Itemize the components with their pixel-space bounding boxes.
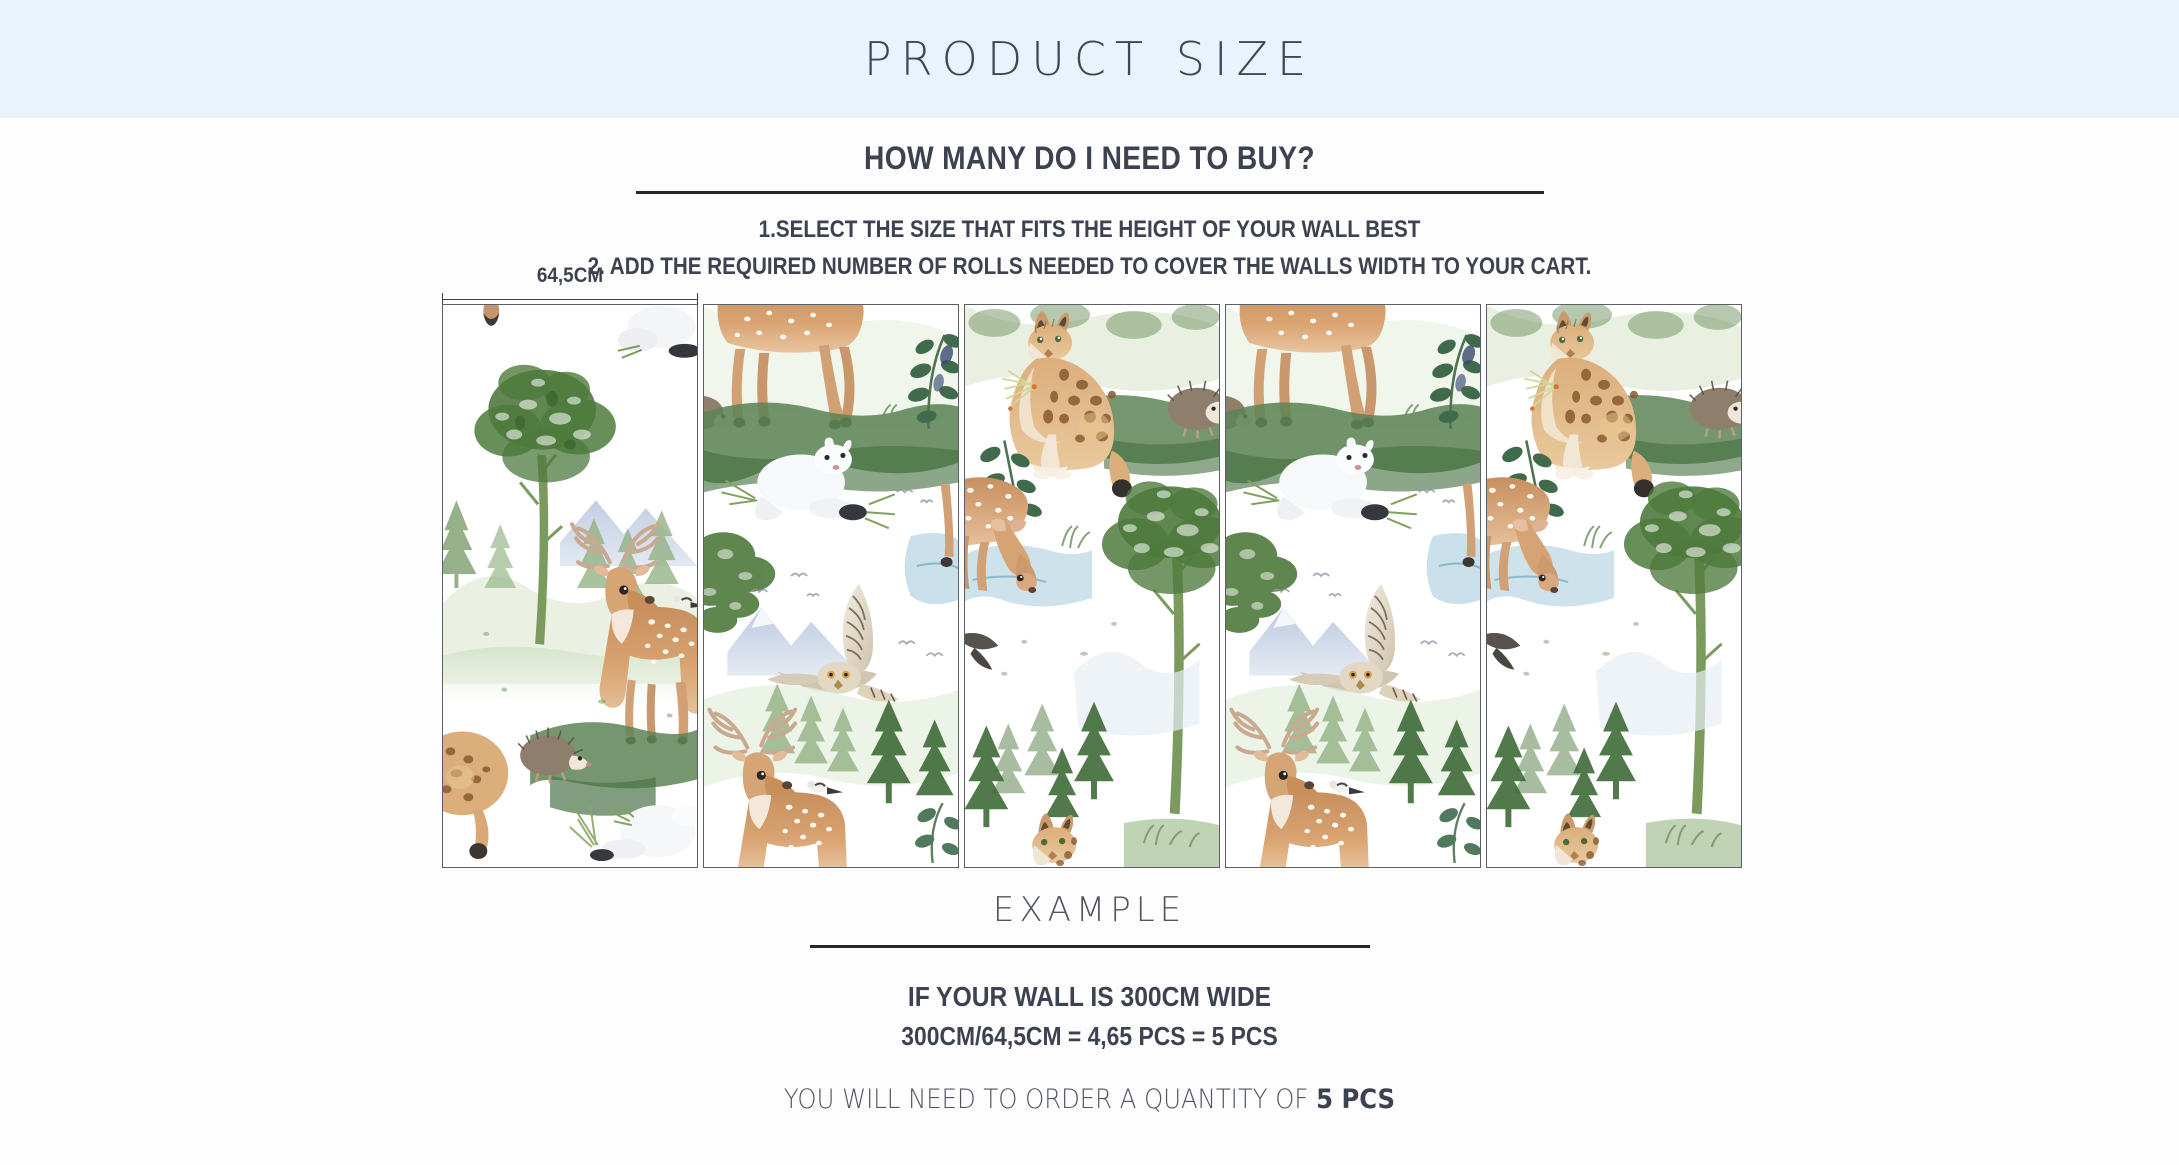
example-section: EXAMPLE IF YOUR WALL IS 300CM WIDE 300CM… — [0, 890, 2179, 1115]
dimension-bar — [442, 299, 698, 300]
intro-step-two: 2. ADD THE REQUIRED NUMBER OF ROLLS NEED… — [153, 253, 2027, 281]
wallpaper-panel-3[interactable] — [964, 304, 1220, 868]
wallpaper-panels-area: 64,5CM — [442, 270, 698, 304]
panel-5-artwork — [1487, 305, 1741, 867]
example-calculation: 300CM/64,5CM = 4,65 PCS = 5 PCS — [131, 1021, 2049, 1052]
example-conclusion-prefix: YOU WILL NEED TO ORDER A QUANTITY OF — [784, 1084, 1316, 1115]
page-title: PRODUCT SIZE — [864, 32, 1315, 86]
example-conclusion: YOU WILL NEED TO ORDER A QUANTITY OF 5 P… — [109, 1084, 2070, 1115]
panel-3-artwork — [965, 305, 1219, 867]
wallpaper-panel-2[interactable] — [703, 304, 959, 868]
wallpaper-panel-1[interactable] — [442, 304, 698, 868]
panel-4-artwork — [1226, 305, 1480, 867]
intro-heading: HOW MANY DO I NEED TO BUY? — [131, 140, 2049, 177]
page-header: PRODUCT SIZE — [0, 0, 2179, 118]
panel-1-artwork — [443, 305, 697, 867]
wallpaper-panel-row — [442, 304, 1742, 868]
example-heading: EXAMPLE — [0, 890, 2179, 930]
width-dimension: 64,5CM — [442, 270, 698, 304]
example-wall-width: IF YOUR WALL IS 300CM WIDE — [131, 981, 2049, 1013]
intro-divider — [636, 191, 1544, 194]
width-dimension-label: 64,5CM — [455, 264, 685, 288]
example-conclusion-quantity: 5 PCS — [1316, 1084, 1395, 1115]
wallpaper-panel-4[interactable] — [1225, 304, 1481, 868]
intro-section: HOW MANY DO I NEED TO BUY? 1.SELECT THE … — [0, 118, 2179, 281]
wallpaper-panel-5[interactable] — [1486, 304, 1742, 868]
intro-step-one: 1.SELECT THE SIZE THAT FITS THE HEIGHT O… — [153, 216, 2027, 244]
panel-2-artwork — [704, 305, 958, 867]
example-divider — [810, 945, 1370, 948]
